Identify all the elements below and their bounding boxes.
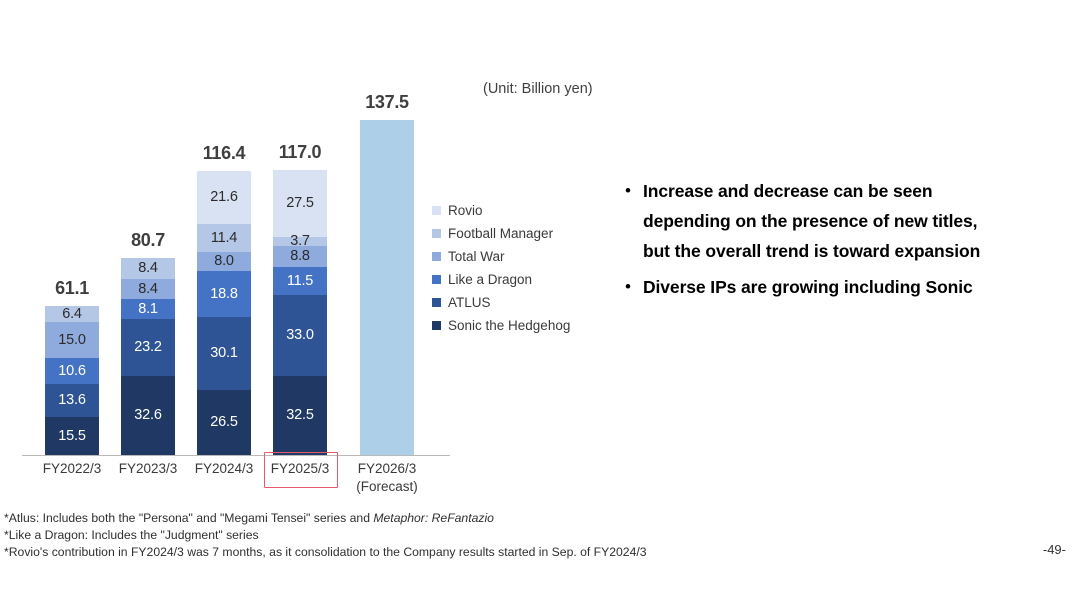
bar-segment-value: 8.4 bbox=[138, 282, 158, 297]
footnote-line: *Atlus: Includes both the "Persona" and … bbox=[4, 510, 764, 527]
bullet-item: •Increase and decrease can be seendepend… bbox=[625, 176, 1075, 266]
bar-segment[interactable]: 3.7 bbox=[273, 237, 327, 246]
legend-item[interactable]: Like a Dragon bbox=[432, 268, 612, 291]
bar-segment[interactable]: 27.5 bbox=[273, 170, 327, 237]
bar-segment[interactable]: 10.6 bbox=[45, 358, 99, 384]
bar-segment-value: 15.5 bbox=[58, 429, 85, 444]
bar-stack[interactable]: 27.53.78.811.533.032.5 bbox=[273, 170, 327, 455]
legend-color-swatch bbox=[432, 321, 441, 330]
bullet-dot-icon: • bbox=[625, 272, 643, 302]
bullet-dot-icon: • bbox=[625, 176, 643, 206]
bar-segment[interactable]: 26.5 bbox=[197, 390, 251, 455]
bar-segment[interactable]: 8.4 bbox=[121, 258, 175, 278]
footnote-text: *Atlus: Includes both the "Persona" and … bbox=[4, 511, 373, 525]
legend-item-label: Football Manager bbox=[448, 226, 553, 241]
bar-segment-value: 8.0 bbox=[214, 254, 234, 269]
legend-item[interactable]: ATLUS bbox=[432, 291, 612, 314]
legend-color-swatch bbox=[432, 229, 441, 238]
bar-segment[interactable]: 32.5 bbox=[273, 376, 327, 455]
footnote-text: *Like a Dragon: Includes the "Judgment" … bbox=[4, 528, 259, 542]
footnote-line: *Rovio's contribution in FY2024/3 was 7 … bbox=[4, 544, 764, 561]
bar-segment-value: 23.2 bbox=[134, 340, 161, 355]
bar-segment-value: 27.5 bbox=[286, 196, 313, 211]
bar-stack[interactable] bbox=[360, 120, 414, 455]
bar-segment-value: 8.8 bbox=[290, 249, 310, 264]
legend-item-label: Like a Dragon bbox=[448, 272, 532, 287]
bar-segment[interactable]: 13.6 bbox=[45, 384, 99, 417]
legend-item-label: Sonic the Hedgehog bbox=[448, 318, 570, 333]
legend-color-swatch bbox=[432, 206, 441, 215]
bar-segment[interactable]: 8.8 bbox=[273, 246, 327, 267]
legend-item-label: Rovio bbox=[448, 203, 483, 218]
bullet-item: •Diverse IPs are growing including Sonic bbox=[625, 272, 1075, 302]
commentary-bullets: •Increase and decrease can be seendepend… bbox=[625, 176, 1075, 308]
bar-segment[interactable]: 23.2 bbox=[121, 319, 175, 376]
bullet-text: Increase and decrease can be seendependi… bbox=[643, 176, 980, 266]
bar-segment[interactable]: 11.4 bbox=[197, 224, 251, 252]
legend-item-label: ATLUS bbox=[448, 295, 491, 310]
bullet-text: Diverse IPs are growing including Sonic bbox=[643, 272, 973, 302]
highlight-box-fy2025 bbox=[264, 452, 338, 488]
bar-segment-value: 6.4 bbox=[62, 307, 82, 322]
x-axis-tick-sublabel: (Forecast) bbox=[337, 478, 437, 496]
bullet-text-line: Increase and decrease can be seen bbox=[643, 176, 980, 206]
page-number: -49- bbox=[1043, 542, 1066, 557]
bar-total-label: 117.0 bbox=[250, 142, 350, 163]
bar-segment-value: 11.5 bbox=[287, 274, 313, 289]
bar-segment[interactable]: 15.5 bbox=[45, 417, 99, 455]
legend-color-swatch bbox=[432, 252, 441, 261]
bar-segment-value: 8.4 bbox=[138, 261, 158, 276]
bar-stack[interactable]: 21.611.48.018.830.126.5 bbox=[197, 171, 251, 455]
bar-segment[interactable]: 32.6 bbox=[121, 376, 175, 455]
bar-stack[interactable]: 6.415.010.613.615.5 bbox=[45, 306, 99, 455]
bar-segment[interactable]: 6.4 bbox=[45, 306, 99, 322]
legend-item[interactable]: Total War bbox=[432, 245, 612, 268]
bar-segment[interactable]: 30.1 bbox=[197, 317, 251, 390]
bar-segment-value: 18.8 bbox=[210, 287, 237, 302]
bar-segment-value: 8.1 bbox=[138, 302, 158, 317]
legend-item[interactable]: Rovio bbox=[432, 199, 612, 222]
bar-segment[interactable]: 8.4 bbox=[121, 279, 175, 299]
bar-segment-value: 21.6 bbox=[210, 190, 237, 205]
bar-segment-forecast[interactable] bbox=[360, 120, 414, 455]
footnote-text: *Rovio's contribution in FY2024/3 was 7 … bbox=[4, 545, 647, 559]
bar-stack[interactable]: 8.48.48.123.232.6 bbox=[121, 258, 175, 455]
x-axis-tick-label: FY2024/3 bbox=[195, 461, 254, 476]
bar-segment-value: 11.4 bbox=[211, 231, 237, 246]
x-axis-tick-label: FY2023/3 bbox=[119, 461, 178, 476]
bar-segment-value: 10.6 bbox=[58, 364, 85, 379]
bar-segment-value: 30.1 bbox=[210, 346, 237, 361]
legend-color-swatch bbox=[432, 275, 441, 284]
bar-segment-value: 13.6 bbox=[58, 393, 85, 408]
footnote-line: *Like a Dragon: Includes the "Judgment" … bbox=[4, 527, 764, 544]
x-axis-tick-fy20263[interactable]: FY2026/3(Forecast) bbox=[337, 460, 437, 495]
x-axis-tick-label: FY2026/3 bbox=[358, 461, 417, 476]
bar-segment[interactable]: 21.6 bbox=[197, 171, 251, 224]
bar-segment-value: 15.0 bbox=[58, 333, 85, 348]
bar-column bbox=[337, 0, 437, 500]
footnotes: *Atlus: Includes both the "Persona" and … bbox=[4, 510, 764, 561]
bar-segment-value: 26.5 bbox=[210, 415, 237, 430]
bar-segment[interactable]: 33.0 bbox=[273, 295, 327, 375]
bar-segment-value: 32.6 bbox=[134, 408, 161, 423]
bar-total-label: 137.5 bbox=[337, 92, 437, 113]
x-axis-tick-label: FY2022/3 bbox=[43, 461, 102, 476]
legend-item-label: Total War bbox=[448, 249, 505, 264]
bullet-text-line: but the overall trend is toward expansio… bbox=[643, 236, 980, 266]
bullet-text-line: Diverse IPs are growing including Sonic bbox=[643, 272, 973, 302]
bar-segment[interactable]: 8.0 bbox=[197, 252, 251, 271]
bar-segment-value: 32.5 bbox=[286, 408, 313, 423]
footnote-title-italic: Metaphor: ReFantazio bbox=[373, 511, 494, 525]
bar-segment[interactable]: 11.5 bbox=[273, 267, 327, 295]
bullet-text-line: depending on the presence of new titles, bbox=[643, 206, 980, 236]
legend-item[interactable]: Sonic the Hedgehog bbox=[432, 314, 612, 337]
bar-segment[interactable]: 15.0 bbox=[45, 322, 99, 359]
bar-segment-value: 33.0 bbox=[286, 328, 313, 343]
bar-column: 27.53.78.811.533.032.5 bbox=[250, 0, 350, 500]
legend-color-swatch bbox=[432, 298, 441, 307]
bar-segment[interactable]: 8.1 bbox=[121, 299, 175, 319]
bar-segment[interactable]: 18.8 bbox=[197, 271, 251, 317]
legend-item[interactable]: Football Manager bbox=[432, 222, 612, 245]
chart-legend: RovioFootball ManagerTotal WarLike a Dra… bbox=[432, 199, 612, 337]
